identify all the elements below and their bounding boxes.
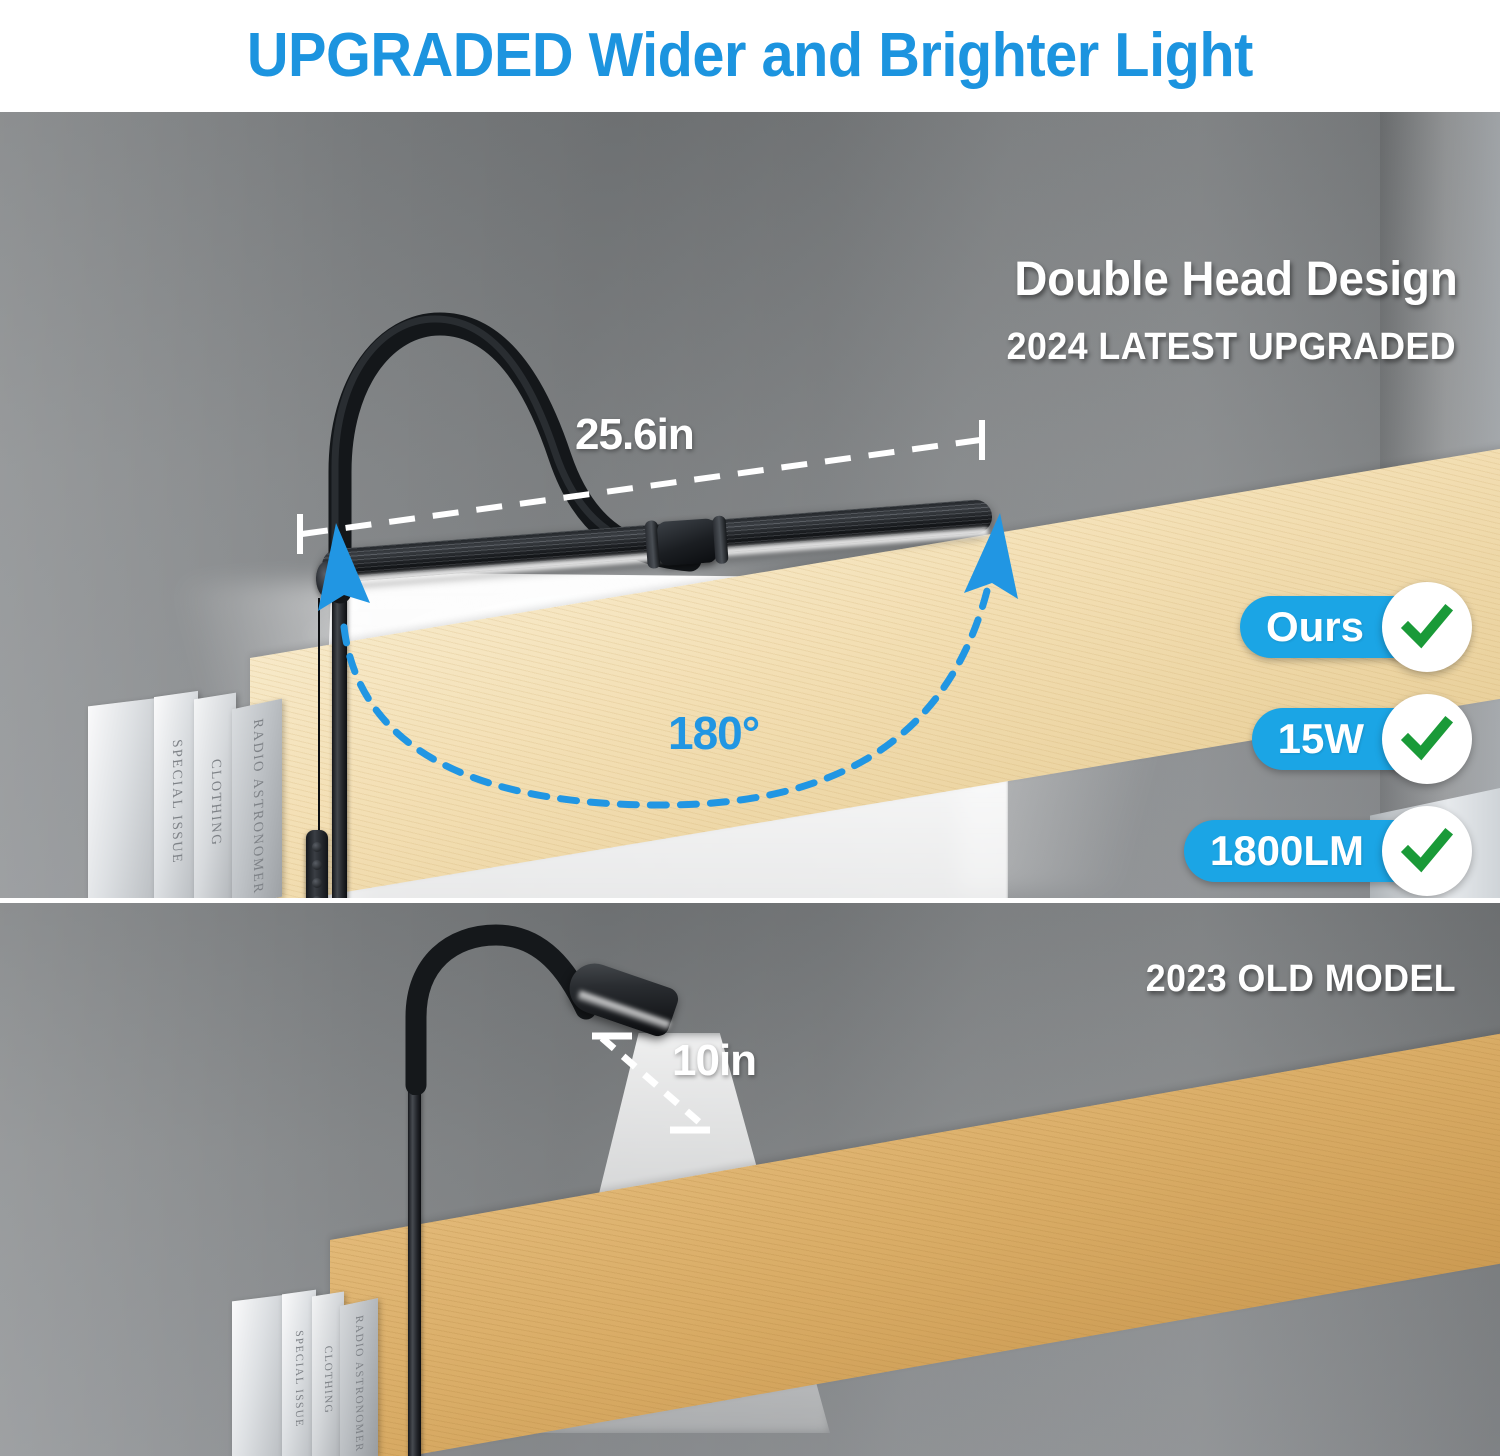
header-bar: UPGRADED Wider and Brighter Light [0,0,1500,112]
book-spine-label: SPECIAL ISSUE [293,1330,305,1429]
inline-controller[interactable] [306,830,328,898]
panel-new-model: SPECIAL ISSUE CLOTHING RADIO ASTRONOMER … [0,112,1500,898]
book-stack: SPECIAL ISSUE CLOTHING RADIO ASTRONOMER [88,672,318,898]
panel-heading-main: Double Head Design [1015,252,1458,307]
panel-heading-sub: 2024 LATEST UPGRADED [1007,326,1456,369]
book-spine-label: RADIO ASTRONOMER [353,1314,365,1453]
measurement-label-width: 25.6in [575,410,694,460]
measurement-label-width-old: 10in [672,1036,756,1086]
book: SPECIAL ISSUE [154,691,198,898]
check-icon [1382,582,1472,672]
book-spine-label: CLOTHING [322,1345,334,1415]
badge-row: 1800LM [1182,806,1472,896]
rotation-angle-label: 180° [668,706,759,760]
book-spine-label: SPECIAL ISSUE [168,739,184,866]
rotation-arc-180 [300,507,1040,827]
book: SPECIAL ISSUE [282,1290,316,1456]
book [88,698,160,898]
book-spine-label: CLOTHING [207,758,223,848]
page-title: UPGRADED Wider and Brighter Light [247,25,1253,87]
book: CLOTHING [194,693,236,898]
book: RADIO ASTRONOMER [340,1298,378,1456]
check-icon [1382,806,1472,896]
book-spine-label: RADIO ASTRONOMER [249,717,265,896]
panel-old-model: SPECIAL ISSUE CLOTHING RADIO ASTRONOMER … [0,903,1500,1456]
book-stack: SPECIAL ISSUE CLOTHING RADIO ASTRONOMER [232,1270,412,1456]
panel-heading-old: 2023 OLD MODEL [1146,958,1456,1001]
check-icon [1382,694,1472,784]
book: RADIO ASTRONOMER [232,699,282,898]
comparison-badges-ours: Ours 15W 1800LM [1182,582,1472,898]
book [232,1295,286,1456]
badge-row: 15W [1182,694,1472,784]
badge-row: Ours [1182,582,1472,672]
